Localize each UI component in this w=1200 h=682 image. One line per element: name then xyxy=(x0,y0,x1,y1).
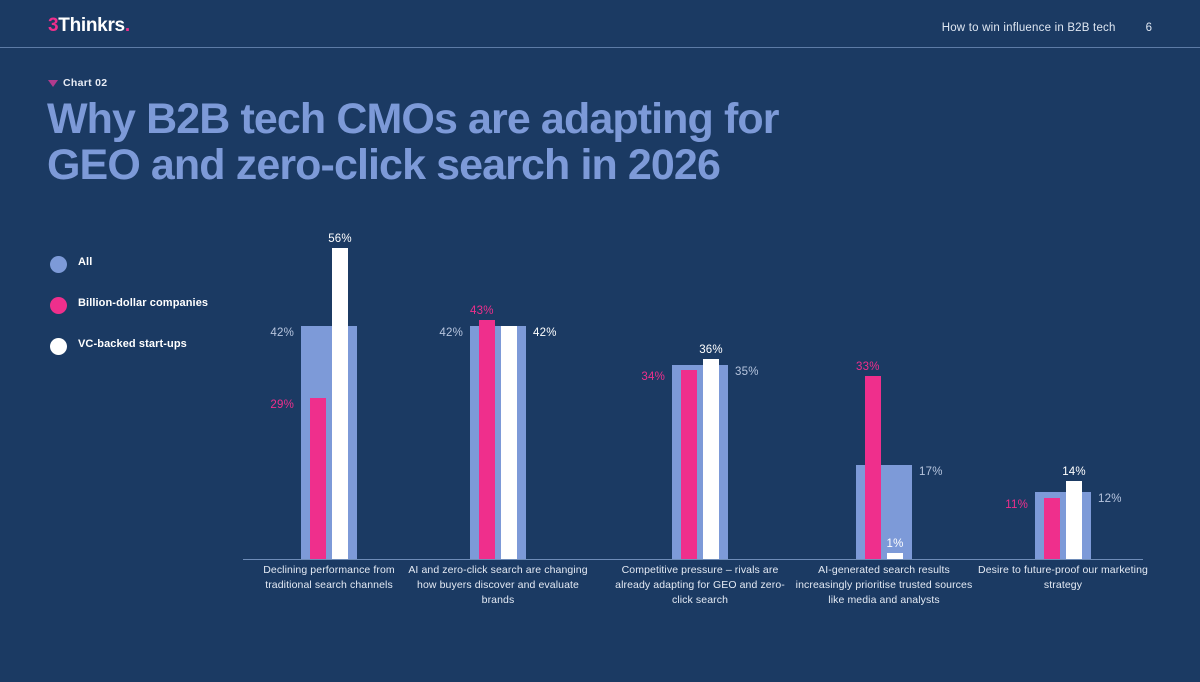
value-label-all: 12% xyxy=(1098,493,1122,505)
logo-wordmark: Thinkrs xyxy=(58,15,125,36)
bar-billion-dollar[interactable] xyxy=(1044,498,1060,559)
value-label-all: 42% xyxy=(270,327,294,339)
logo-numeral: 3 xyxy=(48,15,58,36)
bar-chart-plot: 42%29%56%42%43%42%35%34%36%17%33%1%12%11… xyxy=(243,215,1143,560)
bar-group: 17%33%1% xyxy=(856,215,912,559)
legend-item-all[interactable]: All xyxy=(50,255,220,273)
bar-billion-dollar[interactable] xyxy=(479,320,495,559)
bar-group: 35%34%36% xyxy=(672,215,728,559)
header-right-group: How to win influence in B2B tech 6 xyxy=(942,22,1152,34)
page-number: 6 xyxy=(1146,22,1152,34)
category-label: Competitive pressure – rivals are alread… xyxy=(610,563,790,609)
chart-legend: All Billion-dollar companies VC-backed s… xyxy=(50,255,220,378)
bar-vc-backed[interactable] xyxy=(887,553,903,559)
legend-label-billion-dollar: Billion-dollar companies xyxy=(78,296,208,310)
legend-label-vc-backed: VC-backed start-ups xyxy=(78,337,187,351)
bar-vc-backed[interactable] xyxy=(501,326,517,559)
bar-vc-backed[interactable] xyxy=(1066,481,1082,559)
value-label-vc-backed: 14% xyxy=(1062,466,1086,478)
category-label: AI and zero-click search are changing ho… xyxy=(408,563,588,609)
category-label: Declining performance from traditional s… xyxy=(239,563,419,593)
value-label-billion-dollar: 43% xyxy=(470,305,494,317)
page-title: Why B2B tech CMOs are adapting for GEO a… xyxy=(47,96,877,188)
legend-swatch-vc-backed xyxy=(50,338,67,355)
value-label-billion-dollar: 29% xyxy=(270,399,294,411)
logo-period: . xyxy=(125,15,130,36)
brand-logo[interactable]: 3Thinkrs. xyxy=(48,15,130,37)
bar-group: 42%29%56% xyxy=(301,215,357,559)
bar-billion-dollar[interactable] xyxy=(310,398,326,559)
value-label-vc-backed: 42% xyxy=(533,327,557,339)
value-label-all: 17% xyxy=(919,466,943,478)
value-label-vc-backed: 56% xyxy=(328,233,352,245)
bar-billion-dollar[interactable] xyxy=(865,376,881,559)
legend-swatch-billion-dollar xyxy=(50,297,67,314)
page-header: 3Thinkrs. How to win influence in B2B te… xyxy=(0,0,1200,48)
bar-group: 42%43%42% xyxy=(470,215,526,559)
legend-label-all: All xyxy=(78,255,92,269)
chart-eyebrow: Chart 02 xyxy=(48,77,107,89)
bar-billion-dollar[interactable] xyxy=(681,370,697,559)
legend-swatch-all xyxy=(50,256,67,273)
value-label-billion-dollar: 34% xyxy=(641,371,665,383)
value-label-vc-backed: 1% xyxy=(886,538,903,550)
bar-vc-backed[interactable] xyxy=(703,359,719,559)
value-label-billion-dollar: 11% xyxy=(1005,499,1028,511)
value-label-vc-backed: 36% xyxy=(699,344,723,356)
category-label: AI-generated search results increasingly… xyxy=(794,563,974,609)
bar-vc-backed[interactable] xyxy=(332,248,348,559)
value-label-all: 35% xyxy=(735,366,759,378)
deck-title: How to win influence in B2B tech xyxy=(942,22,1116,34)
x-axis-baseline xyxy=(243,559,1143,560)
triangle-down-icon xyxy=(48,80,58,87)
category-label: Desire to future-proof our marketing str… xyxy=(973,563,1153,593)
value-label-billion-dollar: 33% xyxy=(856,361,880,373)
legend-item-vc-backed[interactable]: VC-backed start-ups xyxy=(50,337,220,355)
chart-eyebrow-label: Chart 02 xyxy=(63,77,107,89)
value-label-all: 42% xyxy=(439,327,463,339)
legend-item-billion-dollar[interactable]: Billion-dollar companies xyxy=(50,296,220,314)
bar-group: 12%11%14% xyxy=(1035,215,1091,559)
